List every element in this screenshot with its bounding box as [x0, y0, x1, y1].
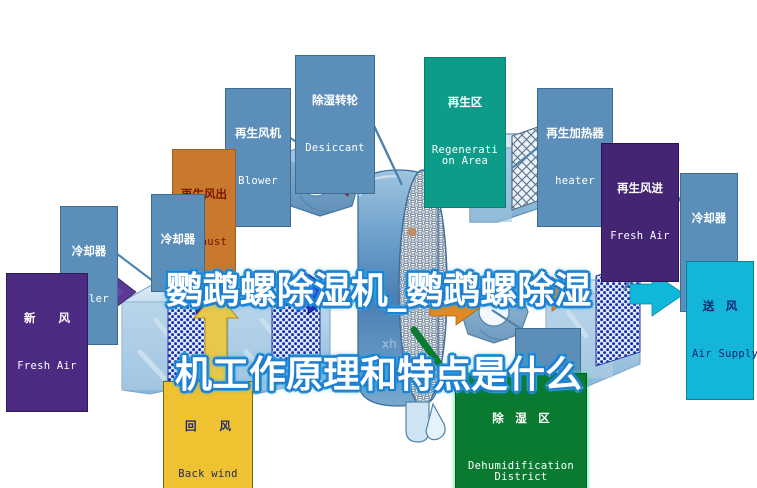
- label-fresh-air-en: Fresh Air: [12, 361, 82, 373]
- label-regeneration-blower-en: Blower: [231, 176, 285, 188]
- label-cooler-right-cn: 冷却器: [686, 212, 732, 225]
- label-air-supply-en: Air Supply: [692, 349, 748, 361]
- label-back-wind-cn: 回 风: [169, 420, 247, 433]
- label-dehumidification-district-cn: 除 湿 区: [461, 412, 581, 425]
- label-back-wind[interactable]: 回 风 Back wind: [163, 381, 253, 488]
- label-fresh-air-cn: 新 风: [12, 312, 82, 325]
- label-regeneration-fresh-air-cn: 再生风进: [607, 182, 673, 195]
- label-cooler-left-cn: 冷却器: [66, 245, 112, 258]
- label-air-supply-cn: 送 风: [692, 300, 748, 313]
- label-regeneration-area-en: Regenerati on Area: [430, 145, 500, 169]
- label-desiccant-rotor-en: Desiccant: [301, 143, 369, 155]
- label-regeneration-area[interactable]: 再生区 Regenerati on Area: [424, 57, 506, 208]
- label-regeneration-heater-cn: 再生加热器: [543, 127, 607, 140]
- label-dehumidification-district[interactable]: 除 湿 区 Dehumidification District: [455, 373, 587, 488]
- condensate-drop: [406, 402, 445, 442]
- label-dehumidification-district-en: Dehumidification District: [461, 461, 581, 485]
- label-desiccant-rotor-cn: 除湿转轮: [301, 94, 369, 107]
- label-cooler-mid-cn: 冷却器: [157, 233, 199, 246]
- label-air-supply[interactable]: 送 风 Air Supply: [686, 261, 754, 400]
- label-desiccant-rotor[interactable]: 除湿转轮 Desiccant: [295, 55, 375, 194]
- diagram-canvas: xh: [0, 0, 757, 488]
- label-cooler-mid[interactable]: 冷却器: [151, 194, 205, 292]
- label-regeneration-fresh-air[interactable]: 再生风进 Fresh Air: [601, 143, 679, 282]
- label-regeneration-heater-en: heater: [543, 176, 607, 188]
- label-regeneration-area-cn: 再生区: [430, 96, 500, 109]
- label-fresh-air[interactable]: 新 风 Fresh Air: [6, 273, 88, 412]
- label-regeneration-fresh-air-en: Fresh Air: [607, 231, 673, 243]
- svg-text:xh: xh: [382, 337, 397, 351]
- label-regeneration-blower-cn: 再生风机: [231, 127, 285, 140]
- label-back-wind-en: Back wind: [169, 469, 247, 481]
